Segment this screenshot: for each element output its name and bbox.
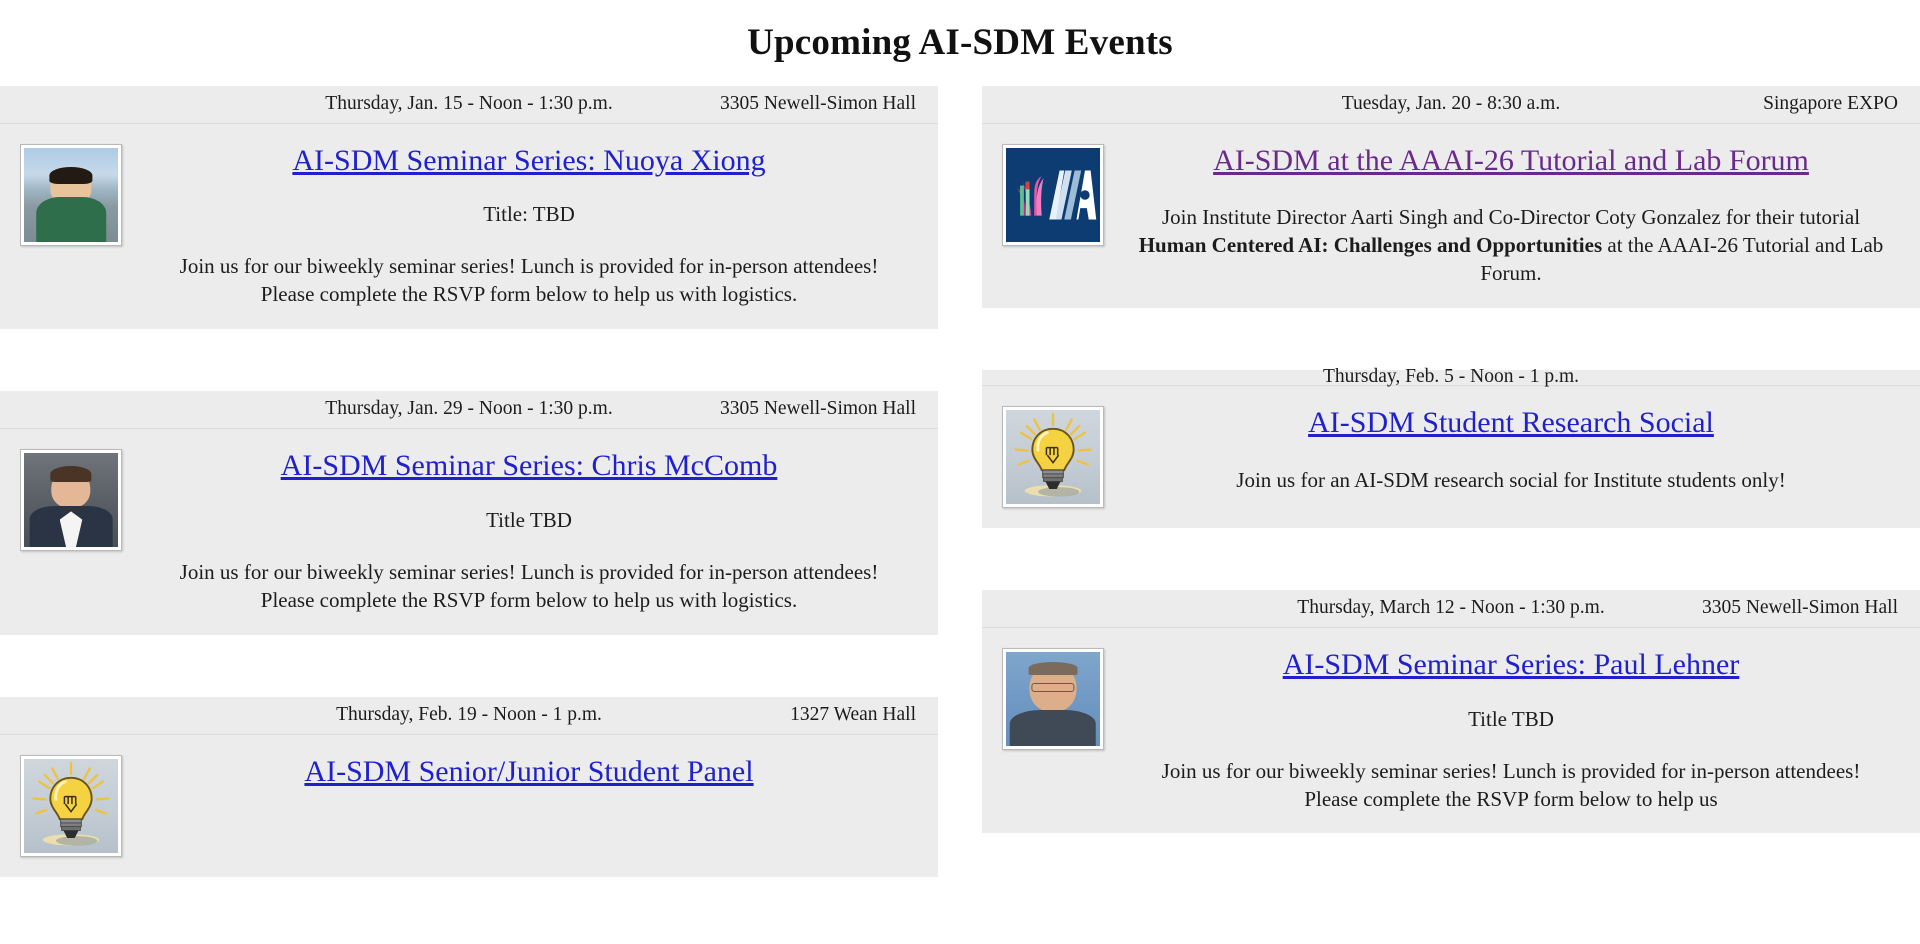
event-thumbnail-wrap: [1002, 406, 1106, 508]
event-card-content: AI-SDM at the AAAI-26 Tutorial and Lab F…: [1122, 140, 1900, 288]
event-thumbnail-wrap: [20, 144, 124, 246]
event-date-text: Thursday, March 12 - Noon - 1:30 p.m.: [1297, 597, 1604, 619]
lightbulb-image: [24, 759, 118, 853]
event-thumbnail[interactable]: [20, 449, 122, 551]
event-thumbnail[interactable]: [1002, 406, 1104, 508]
events-page: Upcoming AI-SDM Events Thursday, Jan. 15…: [0, 23, 1920, 944]
event-location: 3305 Newell-Simon Hall: [720, 398, 916, 420]
event-thumbnail-wrap: [1002, 648, 1106, 750]
event-card-content: AI-SDM Seminar Series: Chris McCombTitle…: [140, 445, 918, 614]
event-card-body: AI-SDM Senior/Junior Student Panel: [0, 735, 938, 863]
aaai-logo-image: [1006, 148, 1100, 242]
event-thumbnail[interactable]: [1002, 144, 1104, 246]
event-card: Thursday, Jan. 29 - Noon - 1:30 p.m.3305…: [0, 391, 938, 634]
event-card-header: Tuesday, Jan. 20 - 8:30 a.m.Singapore EX…: [982, 86, 1920, 124]
page-title: Upcoming AI-SDM Events: [0, 23, 1920, 64]
event-thumbnail[interactable]: [20, 755, 122, 857]
event-card-body: AI-SDM Seminar Series: Paul LehnerTitle …: [982, 628, 1920, 819]
event-description-pre: Join Institute Director Aarti Singh and …: [1162, 205, 1860, 229]
event-card-header: Thursday, Jan. 15 - Noon - 1:30 p.m.3305…: [0, 86, 938, 124]
event-thumbnail-wrap: [1002, 144, 1106, 246]
speaker-photo: [24, 148, 118, 242]
event-card-content: AI-SDM Seminar Series: Nuoya XiongTitle:…: [140, 140, 918, 309]
event-title-link[interactable]: AI-SDM Senior/Junior Student Panel: [304, 751, 753, 794]
event-card: Thursday, Feb. 19 - Noon - 1 p.m.1327 We…: [0, 697, 938, 877]
event-description-pre: Join us for our biweekly seminar series!…: [180, 254, 879, 306]
events-column-left: Thursday, Jan. 15 - Noon - 1:30 p.m.3305…: [0, 86, 938, 939]
event-card-header: Thursday, Feb. 19 - Noon - 1 p.m.1327 We…: [0, 697, 938, 735]
event-title-link[interactable]: AI-SDM at the AAAI-26 Tutorial and Lab F…: [1213, 140, 1809, 183]
event-card: Thursday, Jan. 15 - Noon - 1:30 p.m.3305…: [0, 86, 938, 329]
event-description: Join us for our biweekly seminar series!…: [154, 253, 904, 309]
events-column-right: Tuesday, Jan. 20 - 8:30 a.m.Singapore EX…: [982, 86, 1920, 896]
event-card: Thursday, Feb. 5 - Noon - 1 p.m.AI-SDM S…: [982, 370, 1920, 528]
event-location: 3305 Newell-Simon Hall: [1702, 597, 1898, 619]
event-date-text: Thursday, Feb. 5 - Noon - 1 p.m.: [1323, 366, 1579, 388]
event-title-link[interactable]: AI-SDM Seminar Series: Chris McComb: [281, 445, 778, 488]
event-card-content: AI-SDM Senior/Junior Student Panel: [140, 751, 918, 798]
speaker-photo: [1006, 652, 1100, 746]
event-description: Join us for our biweekly seminar series!…: [1136, 758, 1886, 814]
lightbulb-image: [1006, 410, 1100, 504]
event-card-body: AI-SDM at the AAAI-26 Tutorial and Lab F…: [982, 124, 1920, 294]
event-date-text: Tuesday, Jan. 20 - 8:30 a.m.: [1342, 93, 1560, 115]
speaker-photo: [24, 453, 118, 547]
event-card: Tuesday, Jan. 20 - 8:30 a.m.Singapore EX…: [982, 86, 1920, 308]
event-thumbnail[interactable]: [20, 144, 122, 246]
event-location: 3305 Newell-Simon Hall: [720, 93, 916, 115]
event-description-pre: Join us for an AI-SDM research social fo…: [1236, 468, 1785, 492]
event-description-pre: Join us for our biweekly seminar series!…: [180, 560, 879, 612]
event-subtitle: Title: TBD: [154, 202, 904, 227]
event-description: Join Institute Director Aarti Singh and …: [1136, 204, 1886, 288]
event-card-content: AI-SDM Seminar Series: Paul LehnerTitle …: [1122, 644, 1900, 813]
event-thumbnail-wrap: [20, 449, 124, 551]
event-thumbnail-wrap: [20, 755, 124, 857]
event-date: Thursday, Feb. 5 - Noon - 1 p.m.: [982, 366, 1920, 388]
event-location: 1327 Wean Hall: [790, 704, 916, 726]
event-card-content: AI-SDM Student Research SocialJoin us fo…: [1122, 402, 1900, 495]
event-description-pre: Join us for our biweekly seminar series!…: [1162, 759, 1861, 811]
event-date-text: Thursday, Feb. 19 - Noon - 1 p.m.: [336, 704, 602, 726]
event-card-header: Thursday, Jan. 29 - Noon - 1:30 p.m.3305…: [0, 391, 938, 429]
event-card-body: AI-SDM Seminar Series: Chris McCombTitle…: [0, 429, 938, 620]
event-card: Thursday, March 12 - Noon - 1:30 p.m.330…: [982, 590, 1920, 833]
event-card-header: Thursday, March 12 - Noon - 1:30 p.m.330…: [982, 590, 1920, 628]
event-description: Join us for an AI-SDM research social fo…: [1136, 467, 1886, 495]
event-card-body: AI-SDM Seminar Series: Nuoya XiongTitle:…: [0, 124, 938, 315]
event-card-body: AI-SDM Student Research SocialJoin us fo…: [982, 386, 1920, 514]
event-date-text: Thursday, Jan. 29 - Noon - 1:30 p.m.: [325, 398, 612, 420]
event-description: Join us for our biweekly seminar series!…: [154, 559, 904, 615]
event-description-highlight: Human Centered AI: Challenges and Opport…: [1139, 233, 1602, 257]
event-subtitle: Title TBD: [154, 508, 904, 533]
events-columns: Thursday, Jan. 15 - Noon - 1:30 p.m.3305…: [0, 86, 1920, 939]
event-title-link[interactable]: AI-SDM Seminar Series: Paul Lehner: [1283, 644, 1740, 687]
event-title-link[interactable]: AI-SDM Seminar Series: Nuoya Xiong: [292, 140, 765, 183]
event-thumbnail[interactable]: [1002, 648, 1104, 750]
event-title-link[interactable]: AI-SDM Student Research Social: [1308, 402, 1714, 445]
event-location: Singapore EXPO: [1763, 93, 1898, 115]
event-subtitle: Title TBD: [1136, 707, 1886, 732]
event-card-header: Thursday, Feb. 5 - Noon - 1 p.m.: [982, 370, 1920, 386]
event-date-text: Thursday, Jan. 15 - Noon - 1:30 p.m.: [325, 93, 612, 115]
